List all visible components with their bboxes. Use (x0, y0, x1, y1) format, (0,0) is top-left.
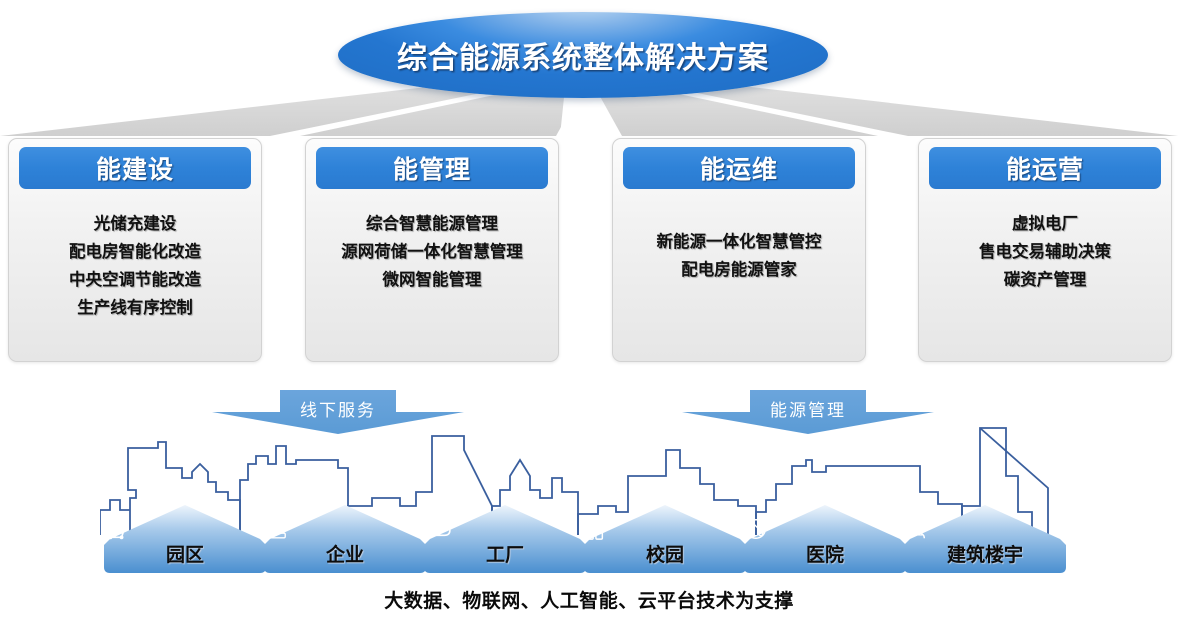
page-title: 综合能源系统整体解决方案 (338, 12, 828, 98)
pillar-item-list: 综合智慧能源管理 源网荷储一体化智慧管理 微网智能管理 (312, 201, 552, 353)
scenario-label: 企业 (264, 540, 426, 567)
banner-label: 线下服务 (212, 396, 464, 421)
pillar-item: 微网智能管理 (383, 271, 482, 290)
page-title-text: 综合能源系统整体解决方案 (397, 33, 769, 77)
scenario-house-yuanqu[interactable]: 园区 (104, 505, 266, 573)
pillar-item: 生产线有序控制 (77, 299, 193, 318)
pillar-card-header: 能管理 (316, 147, 548, 189)
pillar-card-neng-yun-wei[interactable]: 能运维 新能源一体化智慧管控 配电房能源管家 (612, 138, 866, 362)
pillar-item-list: 新能源一体化智慧管控 配电房能源管家 (619, 201, 859, 353)
scenario-label: 医院 (744, 540, 906, 567)
person-icon (904, 517, 1066, 541)
pillar-item: 新能源一体化智慧管控 (657, 233, 822, 252)
scenario-house-jianzhu-louyu[interactable]: 建筑楼宇 (904, 505, 1066, 573)
buildings-icon (584, 517, 746, 541)
pillar-item: 中央空调节能改造 (69, 271, 201, 290)
pillar-header-text: 能管理 (393, 150, 471, 186)
pillar-item: 配电房智能化改造 (69, 243, 201, 262)
pillar-item: 售电交易辅助决策 (979, 243, 1111, 262)
medical-circle-icon (744, 517, 906, 541)
pillar-card-header: 能运维 (623, 147, 855, 189)
scenario-label: 建筑楼宇 (904, 540, 1066, 567)
scenario-house-gongchang[interactable]: 工厂 (424, 505, 586, 573)
banner-label: 能源管理 (682, 396, 934, 421)
pillar-card-neng-guan-li[interactable]: 能管理 综合智慧能源管理 源网荷储一体化智慧管理 微网智能管理 (305, 138, 559, 362)
pillar-card-header: 能建设 (19, 147, 251, 189)
pillar-header-text: 能运营 (1006, 150, 1084, 186)
scenario-house-yiyuan[interactable]: 医院 (744, 505, 906, 573)
banner-offline-service[interactable]: 线下服务 (212, 390, 464, 434)
pillar-header-text: 能建设 (96, 150, 174, 186)
pillar-header-text: 能运维 (700, 150, 778, 186)
scenario-label: 校园 (584, 540, 746, 567)
pentagon-bolt-icon (104, 517, 266, 541)
scenario-house-xiaoyuan[interactable]: 校园 (584, 505, 746, 573)
scenario-label: 园区 (104, 540, 266, 567)
pillar-card-neng-jian-she[interactable]: 能建设 光储充建设 配电房智能化改造 中央空调节能改造 生产线有序控制 (8, 138, 262, 362)
diagram-canvas: 综合能源系统整体解决方案 能建设 光储充建设 配电房智能化改造 中央空调节能改造… (0, 0, 1178, 620)
pillar-item: 配电房能源管家 (681, 261, 797, 280)
pillar-item: 光储充建设 (94, 215, 177, 234)
server-rack-icon (264, 517, 426, 541)
pillar-item: 源网荷储一体化智慧管理 (341, 243, 523, 262)
pillar-item-list: 虚拟电厂 售电交易辅助决策 碳资产管理 (925, 201, 1165, 353)
pillar-item: 综合智慧能源管理 (366, 215, 498, 234)
pillar-item: 碳资产管理 (1004, 271, 1087, 290)
pillar-item-list: 光储充建设 配电房智能化改造 中央空调节能改造 生产线有序控制 (15, 201, 255, 353)
scenario-house-qiye[interactable]: 企业 (264, 505, 426, 573)
pillar-card-neng-yun-ying[interactable]: 能运营 虚拟电厂 售电交易辅助决策 碳资产管理 (918, 138, 1172, 362)
pillar-item: 虚拟电厂 (1012, 215, 1078, 234)
footer-caption: 大数据、物联网、人工智能、云平台技术为支撑 (0, 586, 1178, 613)
pillar-card-header: 能运营 (929, 147, 1161, 189)
banner-energy-management[interactable]: 能源管理 (682, 390, 934, 434)
scenario-label: 工厂 (424, 540, 586, 567)
cloud-icon (424, 517, 586, 541)
